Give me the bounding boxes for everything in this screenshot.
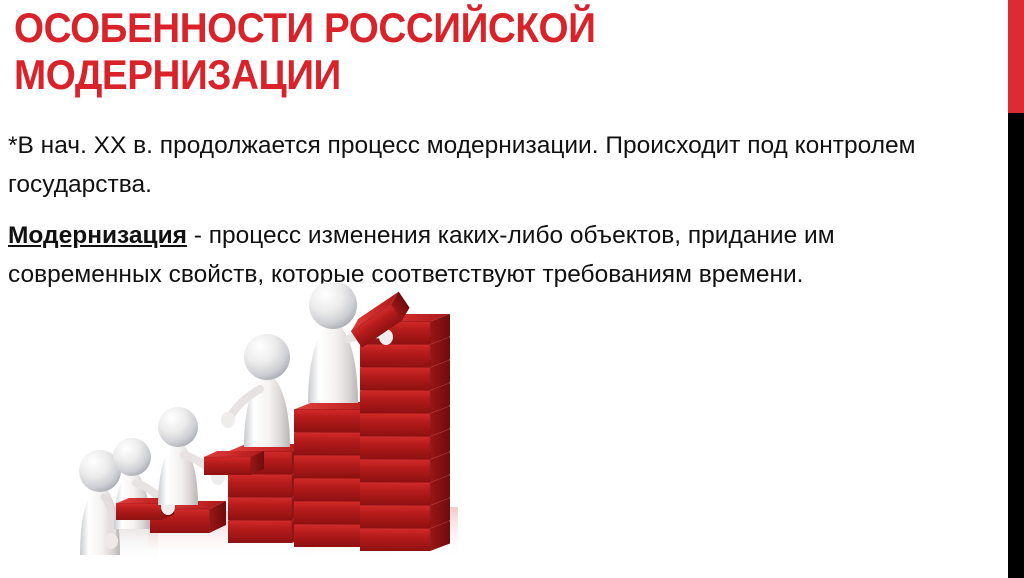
illustration-svg — [8, 283, 468, 578]
figure-4 — [221, 334, 290, 447]
bar-4 — [360, 314, 450, 551]
term-modernization: Модернизация — [8, 222, 187, 249]
block-in-transit-1 — [204, 451, 264, 475]
body-copy: *В нач. XX в. продолжается процесс модер… — [8, 126, 943, 306]
slide: ОСОБЕННОСТИ РОССИЙСКОЙ МОДЕРНИЗАЦИИ *В н… — [0, 0, 1024, 578]
accent-bar-bottom-black — [1008, 113, 1024, 578]
illustration-3d-figures-bar-chart — [8, 283, 468, 578]
accent-bar-top-red — [1008, 0, 1024, 113]
page-title: ОСОБЕННОСТИ РОССИЙСКОЙ МОДЕРНИЗАЦИИ — [14, 4, 870, 98]
paragraph-1: *В нач. XX в. продолжается процесс модер… — [8, 126, 943, 204]
figure-1 — [79, 450, 121, 555]
